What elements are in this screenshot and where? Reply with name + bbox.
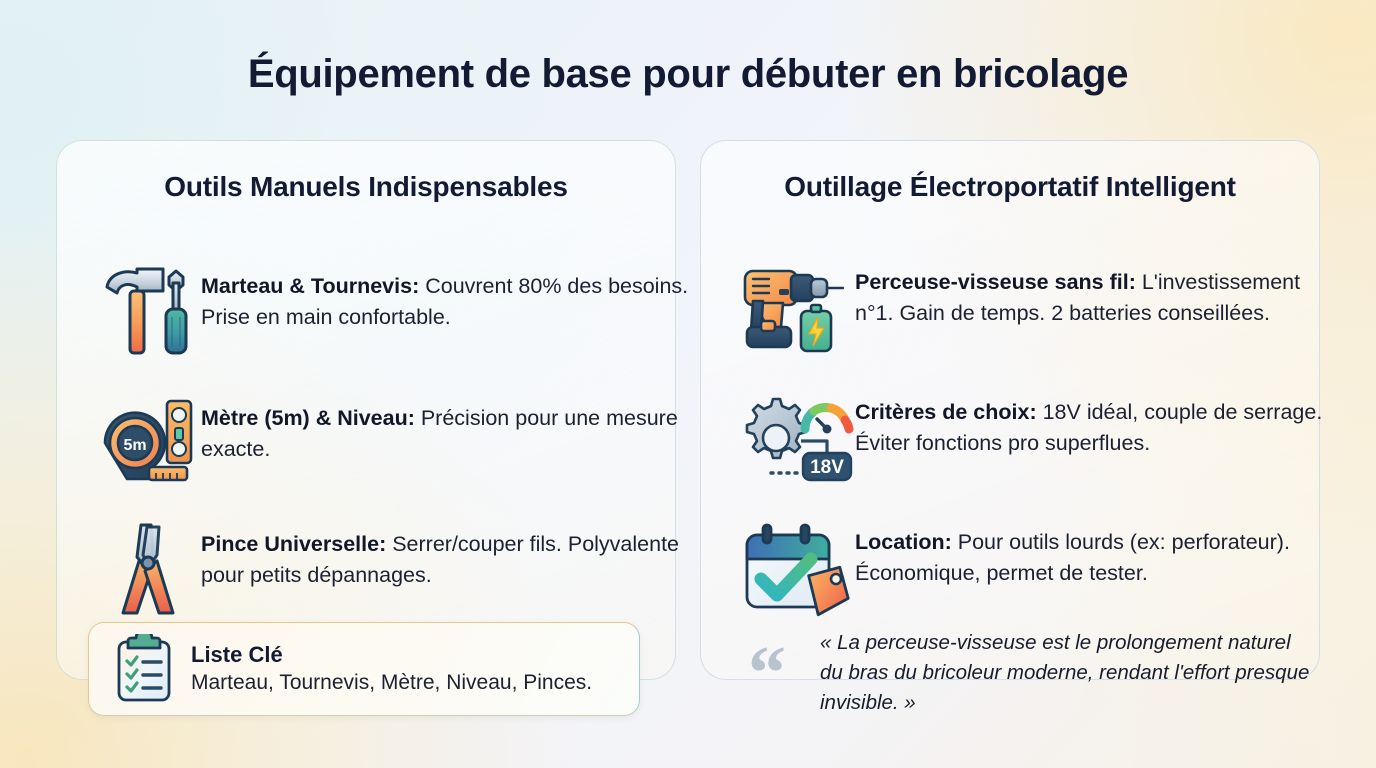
infographic-poster: Équipement de base pour débuter en brico… — [0, 0, 1376, 768]
list-item-text: Marteau & Tournevis: Couvrent 80% des be… — [201, 263, 697, 333]
list-item: Marteau & Tournevis: Couvrent 80% des be… — [97, 263, 697, 359]
voltage-badge-label: 18V — [810, 457, 844, 478]
clipboard-checklist-icon — [109, 634, 183, 704]
liste-cle-callout: Liste Clé Marteau, Tournevis, Mètre, Niv… — [88, 622, 640, 716]
liste-cle-body: Liste Clé Marteau, Tournevis, Mètre, Niv… — [183, 641, 592, 697]
tape-measure-level-icon: 5m — [97, 395, 201, 491]
list-item-text: Perceuse-visseuse sans fil: L'investisse… — [855, 261, 1339, 329]
list-item-lead: Perceuse-visseuse sans fil: — [855, 270, 1136, 294]
cordless-drill-battery-icon — [739, 261, 855, 357]
list-item-lead: Pince Universelle: — [201, 532, 386, 556]
list-item-lead: Location: — [855, 530, 952, 554]
list-item-lead: Marteau & Tournevis: — [201, 274, 419, 298]
list-item-text: Pince Universelle: Serrer/couper fils. P… — [201, 521, 697, 591]
list-item-text: Mètre (5m) & Niveau: Précision pour une … — [201, 395, 697, 465]
list-item-text: Critères de choix: 18V idéal, couple de … — [855, 391, 1339, 459]
list-item-lead: Mètre (5m) & Niveau: — [201, 406, 415, 430]
list-item: 5m Mètre (5m) & Niveau: Précision pour u… — [97, 395, 697, 491]
list-item: Location: Pour outils lourds (ex: perfor… — [739, 521, 1339, 617]
pliers-icon — [97, 521, 201, 617]
list-item-lead: Critères de choix: — [855, 400, 1037, 424]
card-outils-manuels: Outils Manuels Indispensables — [56, 140, 676, 680]
left-card-title: Outils Manuels Indispensables — [57, 171, 675, 203]
quote-text: « La perceuse-visseuse est le prolongeme… — [820, 620, 1318, 718]
list-item: Pince Universelle: Serrer/couper fils. P… — [97, 521, 697, 617]
liste-cle-title: Liste Clé — [191, 641, 592, 668]
list-item: 18V Critères de choix: 18V idéal, couple… — [739, 391, 1339, 487]
list-item: Perceuse-visseuse sans fil: L'investisse… — [739, 261, 1339, 357]
card-outillage-electroportatif: Outillage Électroportatif Intelligent — [700, 140, 1320, 680]
pull-quote: “ « La perceuse-visseuse est le prolonge… — [748, 620, 1318, 718]
gear-gauge-icon: 18V — [739, 391, 855, 487]
calendar-tag-icon — [739, 521, 855, 617]
page-title: Équipement de base pour débuter en brico… — [0, 52, 1376, 97]
hammer-screwdriver-icon — [97, 263, 201, 359]
quote-mark-icon: “ — [748, 620, 820, 708]
liste-cle-text: Marteau, Tournevis, Mètre, Niveau, Pince… — [191, 668, 592, 697]
tape-measure-label: 5m — [123, 437, 146, 454]
right-card-title: Outillage Électroportatif Intelligent — [701, 171, 1319, 203]
list-item-text: Location: Pour outils lourds (ex: perfor… — [855, 521, 1339, 589]
